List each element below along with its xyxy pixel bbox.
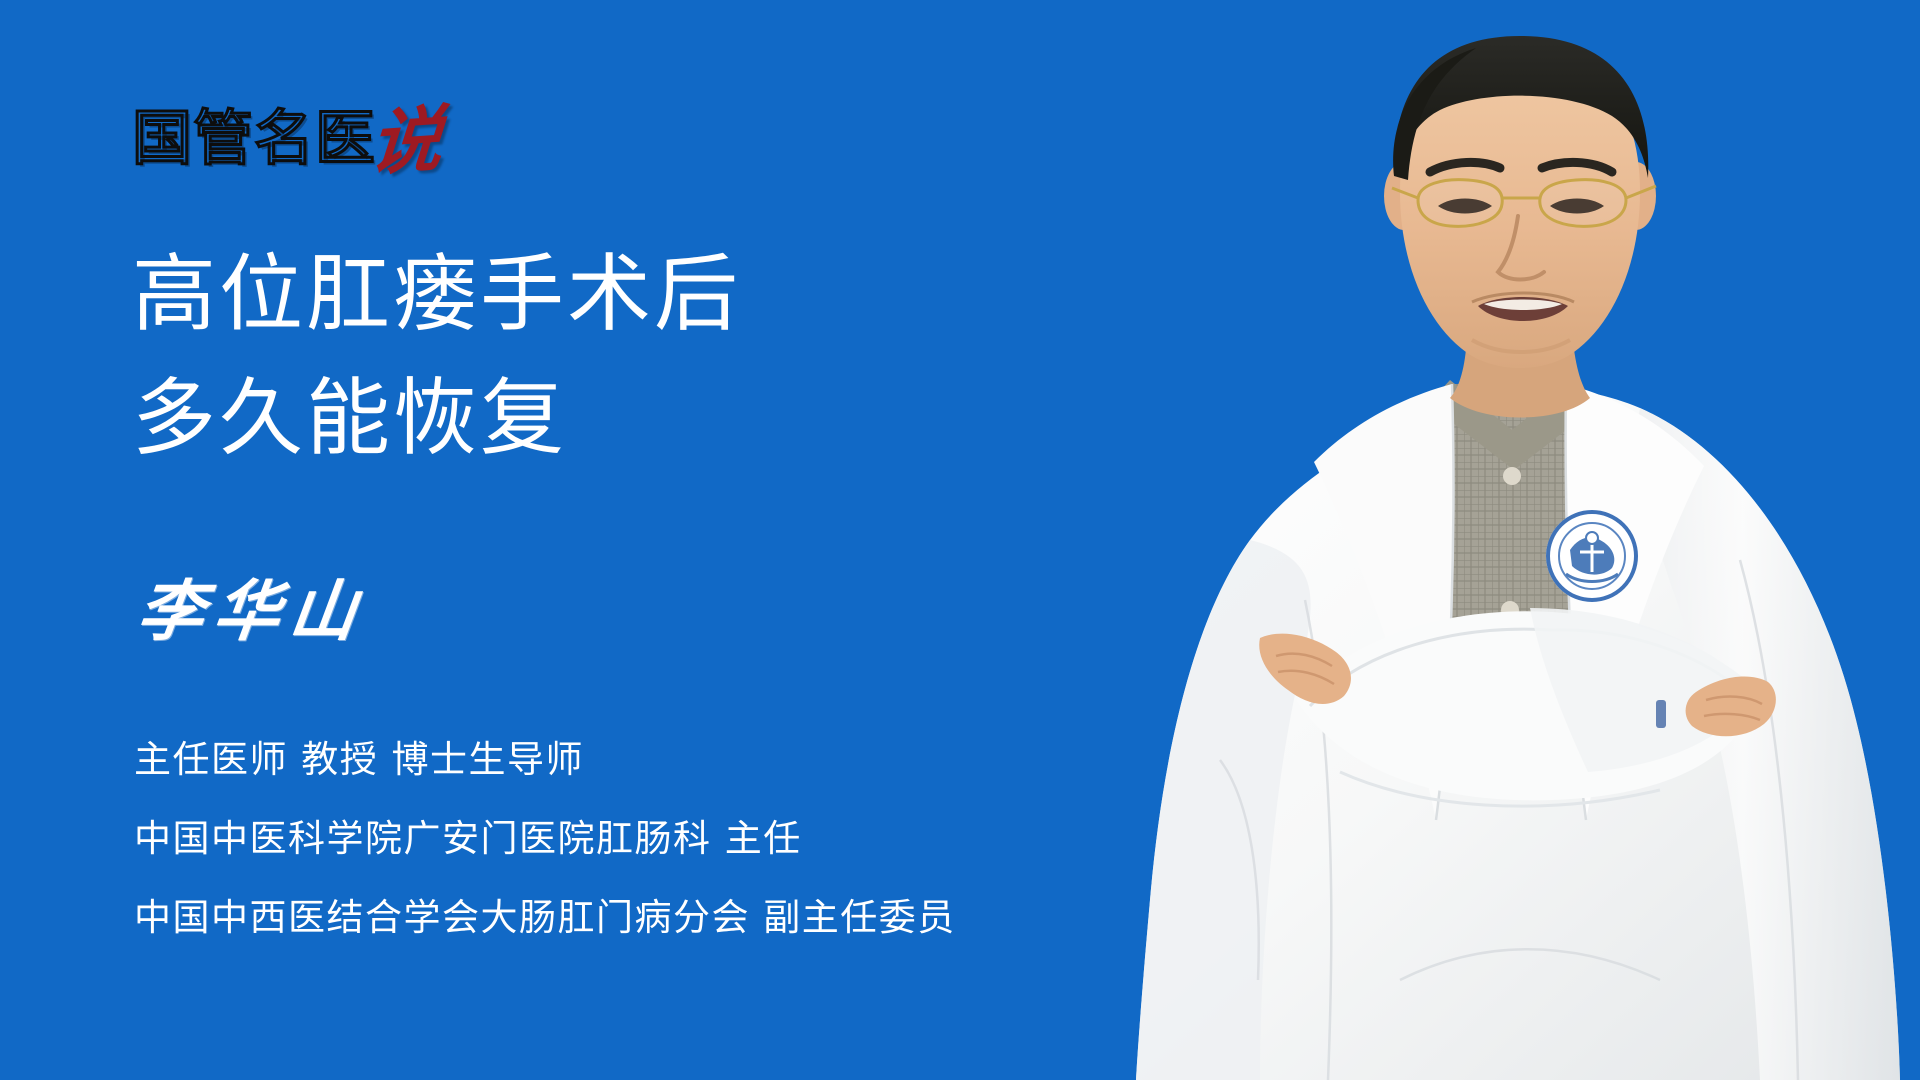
video-title-card: 国管名医 说 高位肛瘘手术后 多久能恢复 李华山 主任医师 教授 博士生导师 中…: [0, 0, 1920, 1080]
credential-line-2: 中国中医科学院广安门医院肛肠科 主任: [134, 799, 956, 878]
credential-line-3: 中国中西医结合学会大肠肛门病分会 副主任委员: [134, 878, 956, 957]
page-title: 高位肛瘘手术后 多久能恢复: [132, 232, 741, 480]
credential-line-1: 主任医师 教授 博士生导师: [134, 720, 956, 799]
coat-pocket-pen: [1656, 700, 1666, 728]
text-content: 国管名医 说 高位肛瘘手术后 多久能恢复 李华山 主任医师 教授 博士生导师 中…: [132, 0, 1202, 1080]
title-line-2: 多久能恢复: [132, 356, 741, 480]
program-logo-main: 国管名医: [132, 108, 376, 170]
program-logo: 国管名医 说: [132, 96, 442, 170]
doctor-name: 李华山: [133, 572, 371, 650]
head-group: [1384, 36, 1656, 418]
title-line-1: 高位肛瘘手术后: [132, 232, 741, 356]
doctor-credentials: 主任医师 教授 博士生导师 中国中医科学院广安门医院肛肠科 主任 中国中西医结合…: [134, 720, 956, 957]
program-logo-accent: 说: [368, 110, 445, 173]
doctor-portrait: [1100, 0, 1920, 1080]
hospital-badge: [1546, 510, 1638, 602]
